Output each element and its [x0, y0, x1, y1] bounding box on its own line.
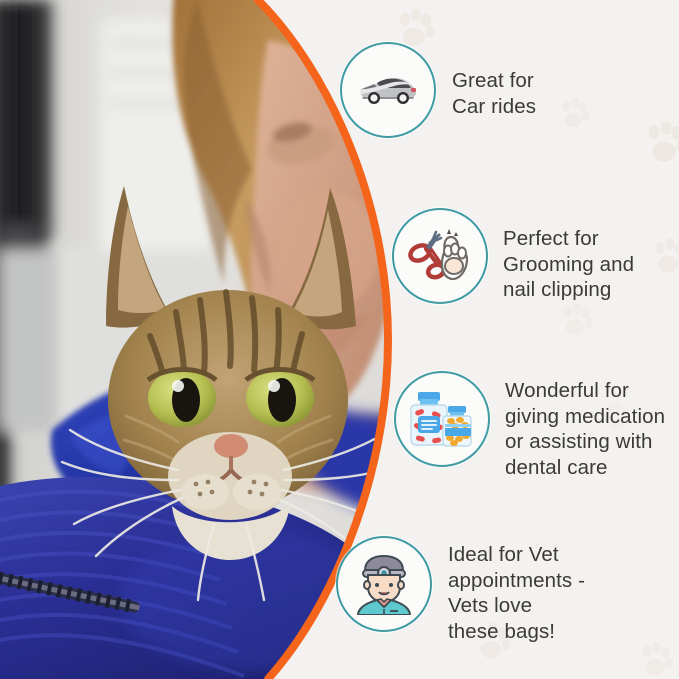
paw-print-watermark — [636, 640, 676, 679]
feature-text-car-rides: Great for Car rides — [452, 68, 536, 119]
product-benefits-infographic: Great for Car rides — [0, 0, 679, 679]
nail-clipper-paw-icon — [407, 227, 473, 285]
veterinarian-icon — [354, 553, 414, 615]
car-icon — [357, 73, 419, 107]
feature-text-grooming: Perfect for Grooming and nail clipping — [503, 226, 634, 303]
feature-icon-medication[interactable] — [394, 371, 490, 467]
feature-icon-car-rides[interactable] — [340, 42, 436, 138]
pill-bottles-icon — [410, 388, 474, 450]
paw-print-watermark — [556, 96, 592, 132]
feature-text-vet-appointments: Ideal for Vet appointments - Vets love t… — [448, 542, 585, 644]
feature-icon-vet-appointments[interactable] — [336, 536, 432, 632]
paw-print-watermark — [640, 118, 679, 168]
paw-print-watermark — [556, 300, 596, 340]
feature-text-medication: Wonderful for giving medication or assis… — [505, 378, 665, 480]
paw-print-watermark — [648, 236, 679, 278]
feature-icon-grooming[interactable] — [392, 208, 488, 304]
